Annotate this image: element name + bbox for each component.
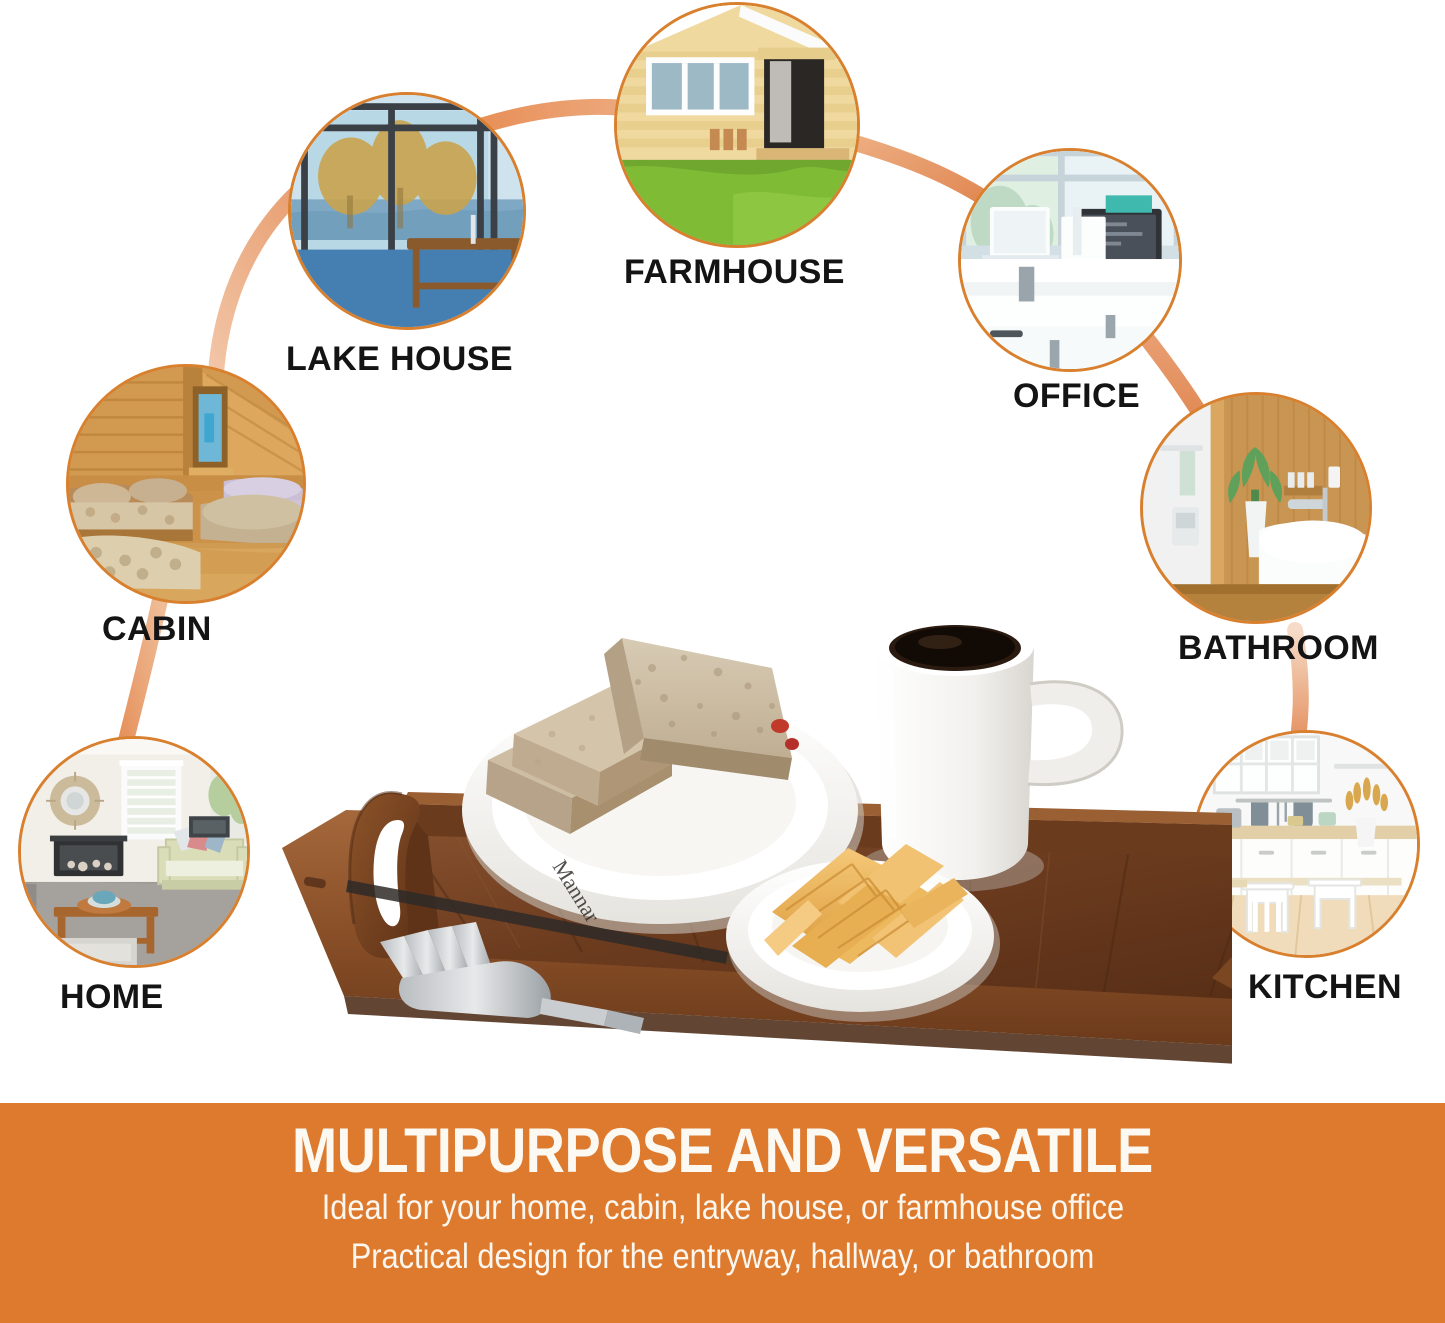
- office-photo[interactable]: [958, 148, 1182, 372]
- product-wooden-serving-tray[interactable]: Mannar: [252, 548, 1232, 1093]
- bottom-banner: MULTIPURPOSE AND VERSATILE Ideal for you…: [0, 1103, 1445, 1323]
- node-farmhouse[interactable]: FARMHOUSE: [614, 2, 860, 248]
- node-label-home: HOME: [60, 978, 164, 1017]
- infographic-root: LAKE HOUSE: [0, 0, 1445, 1323]
- home-photo[interactable]: [18, 736, 250, 968]
- banner-subline-1: Ideal for your home, cabin, lake house, …: [321, 1185, 1123, 1232]
- lake-house-photo[interactable]: [288, 92, 526, 330]
- node-lake-house[interactable]: LAKE HOUSE: [288, 92, 526, 330]
- node-label-lake-house: LAKE HOUSE: [286, 340, 513, 379]
- node-label-farmhouse: FARMHOUSE: [624, 253, 845, 292]
- node-label-cabin: CABIN: [102, 610, 212, 649]
- node-label-office: OFFICE: [1013, 377, 1140, 416]
- node-label-kitchen: KITCHEN: [1248, 968, 1402, 1007]
- farmhouse-photo[interactable]: [614, 2, 860, 248]
- banner-headline: MULTIPURPOSE AND VERSATILE: [292, 1119, 1153, 1183]
- node-office[interactable]: OFFICE: [958, 148, 1182, 372]
- banner-subline-2: Practical design for the entryway, hallw…: [351, 1234, 1095, 1281]
- node-home[interactable]: HOME: [18, 736, 250, 968]
